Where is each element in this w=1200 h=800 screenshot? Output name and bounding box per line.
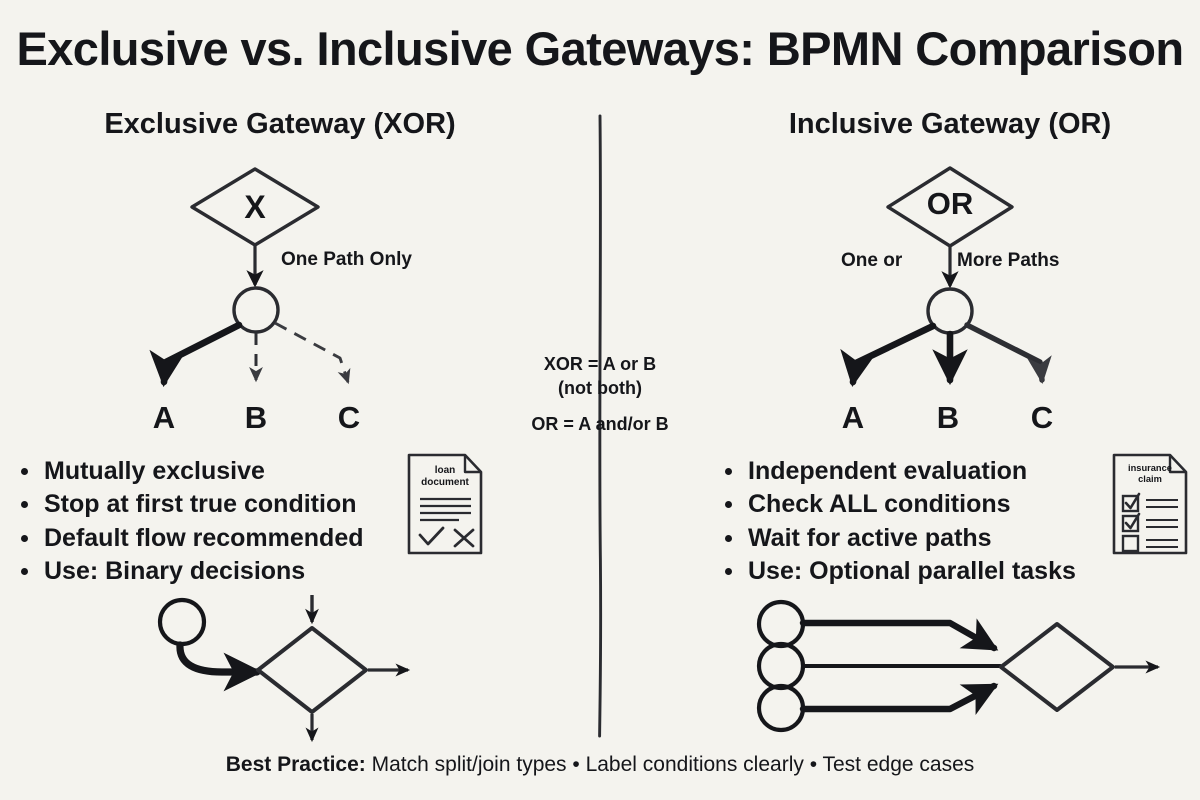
bullet-text: Stop at first true condition (44, 490, 357, 518)
bullet-dot-icon (21, 501, 28, 508)
or-pattern-flow-1 (803, 623, 994, 648)
xor-branch-c-path (275, 323, 348, 382)
or-split-node (928, 289, 972, 333)
best-practice-footer: Best Practice: Match split/join types • … (0, 753, 1200, 777)
bullet-text: Wait for active paths (748, 524, 992, 552)
list-item: Independent evaluation (722, 455, 1076, 488)
insurance-claim-glyph (1108, 452, 1192, 556)
list-item: Default flow recommended (18, 522, 364, 555)
xor-path-note: One Path Only (281, 249, 412, 271)
list-item: Use: Optional parallel tasks (722, 555, 1076, 588)
page-title: Exclusive vs. Inclusive Gateways: BPMN C… (0, 24, 1200, 73)
or-path-note-left: One or (841, 250, 902, 272)
diagram-canvas: Exclusive vs. Inclusive Gateways: BPMN C… (0, 0, 1200, 800)
or-gateway-symbol: OR (910, 186, 990, 222)
or-pattern-event-3 (759, 686, 803, 730)
legend-line-1: XOR = A or B (470, 352, 730, 376)
xor-split-node (234, 288, 278, 332)
xor-pattern-incoming-flow (180, 645, 257, 672)
or-bullet-list: Independent evaluation Check ALL conditi… (722, 455, 1076, 588)
bullet-text: Use: Binary decisions (44, 557, 305, 585)
loan-document-icon: loan document (403, 452, 487, 556)
legend-line-2: (not both) (470, 376, 730, 400)
bullet-text: Check ALL conditions (748, 490, 1011, 518)
or-path-note-right: More Paths (957, 250, 1059, 272)
or-pattern-event-2 (759, 644, 803, 688)
center-legend: XOR = A or B (not both) OR = A and/or B (470, 352, 730, 436)
bullet-dot-icon (725, 501, 732, 508)
xor-pattern-gateway (258, 628, 366, 712)
bullet-dot-icon (725, 568, 732, 575)
xor-gateway-symbol: X (215, 189, 295, 226)
bullet-text: Mutually exclusive (44, 457, 265, 485)
list-item: Mutually exclusive (18, 455, 364, 488)
xor-branch-a-path (164, 325, 239, 382)
loan-document-glyph (403, 452, 487, 556)
list-item: Use: Binary decisions (18, 555, 364, 588)
xor-branch-label-c: C (329, 400, 369, 436)
list-item: Stop at first true condition (18, 488, 364, 521)
or-pattern-flow-3 (803, 686, 994, 709)
right-column-header: Inclusive Gateway (OR) (740, 108, 1160, 141)
or-pattern-event-1 (759, 602, 803, 646)
bullet-dot-icon (21, 468, 28, 475)
insurance-claim-icon: insurance claim (1108, 452, 1192, 556)
bullet-text: Default flow recommended (44, 524, 364, 552)
bullet-dot-icon (21, 535, 28, 542)
or-branch-c-path (967, 325, 1042, 380)
xor-branch-label-a: A (144, 400, 184, 436)
xor-branch-label-b: B (236, 400, 276, 436)
bullet-dot-icon (21, 568, 28, 575)
xor-pattern-start-event (160, 600, 204, 644)
list-item: Wait for active paths (722, 522, 1076, 555)
or-branch-a-path (853, 326, 933, 382)
best-practice-text: Match split/join types • Label condition… (366, 753, 974, 776)
or-branch-label-b: B (928, 400, 968, 436)
or-pattern-gateway (1001, 624, 1113, 710)
or-branch-label-c: C (1022, 400, 1062, 436)
list-item: Check ALL conditions (722, 488, 1076, 521)
bullet-dot-icon (725, 468, 732, 475)
left-column-header: Exclusive Gateway (XOR) (40, 108, 520, 141)
or-branch-label-a: A (833, 400, 873, 436)
bullet-dot-icon (725, 535, 732, 542)
bullet-text: Use: Optional parallel tasks (748, 557, 1076, 585)
bullet-text: Independent evaluation (748, 457, 1027, 485)
legend-line-3: OR = A and/or B (470, 412, 730, 436)
best-practice-label: Best Practice: (226, 753, 366, 776)
xor-bullet-list: Mutually exclusive Stop at first true co… (18, 455, 364, 588)
